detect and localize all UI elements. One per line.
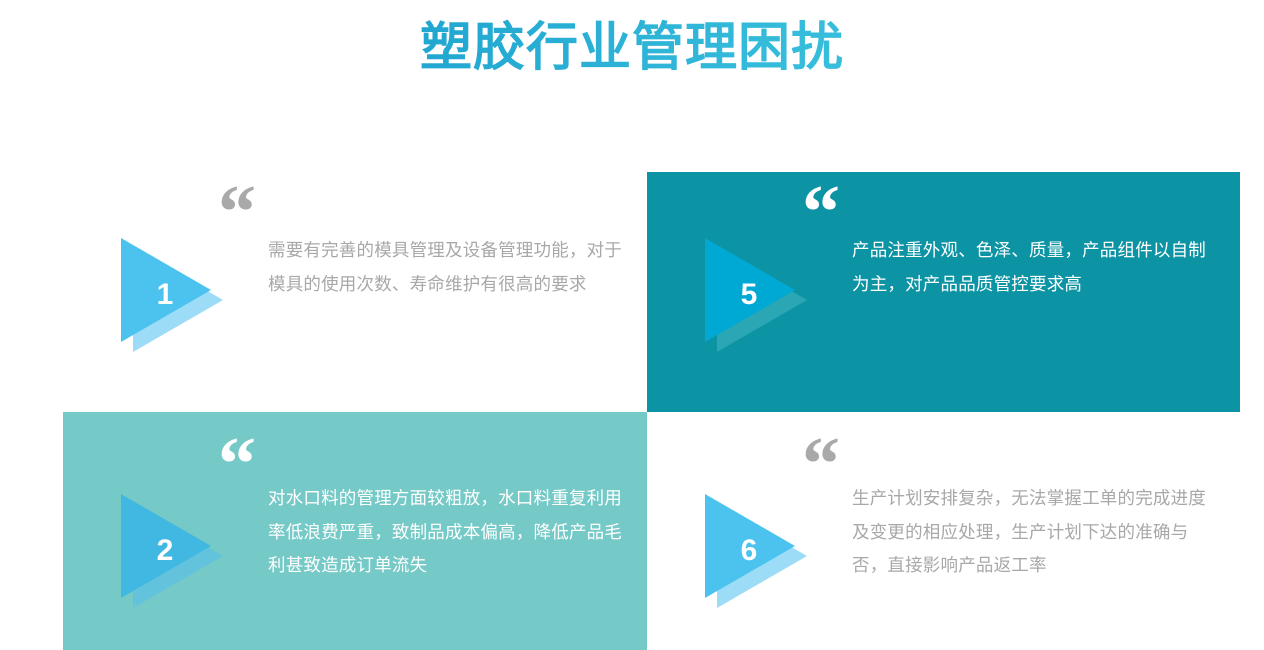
arrow-number-label: 6 — [729, 490, 769, 612]
panel-item-6: 6 “ 生产计划安排复杂，无法掌握工单的完成进度及变更的相应处理，生产计划下达的… — [647, 412, 1240, 650]
quote-open-icon: “ — [802, 426, 838, 502]
panel-item-1: 1 “ 需要有完善的模具管理及设备管理功能，对于模具的使用次数、寿命维护有很高的… — [63, 172, 647, 412]
panel-body-text: 需要有完善的模具管理及设备管理功能，对于模具的使用次数、寿命维护有很高的要求 — [268, 234, 630, 301]
arrow-number-label: 5 — [729, 234, 769, 356]
panel-item-5: 5 “ 产品注重外观、色泽、质量，产品组件以自制为主，对产品品质管控要求高 — [647, 172, 1240, 412]
quote-open-icon: “ — [218, 426, 254, 502]
panel-body-text: 产品注重外观、色泽、质量，产品组件以自制为主，对产品品质管控要求高 — [852, 234, 1214, 301]
panel-body-text: 生产计划安排复杂，无法掌握工单的完成进度及变更的相应处理，生产计划下达的准确与否… — [852, 482, 1214, 583]
quote-open-icon: “ — [802, 174, 838, 250]
panel-item-2: 2 “ 对水口料的管理方面较粗放，水口料重复利用率低浪费严重，致制品成本偏高，降… — [63, 412, 647, 650]
page-title: 塑胶行业管理困扰 — [0, 18, 1264, 79]
arrow-marker-6: 6 — [699, 490, 825, 612]
panel-body-text: 对水口料的管理方面较粗放，水口料重复利用率低浪费严重，致制品成本偏高，降低产品毛… — [268, 482, 630, 583]
arrow-number-label: 1 — [145, 234, 185, 356]
arrow-marker-2: 2 — [115, 490, 241, 612]
arrow-number-label: 2 — [145, 490, 185, 612]
quote-open-icon: “ — [218, 174, 254, 250]
